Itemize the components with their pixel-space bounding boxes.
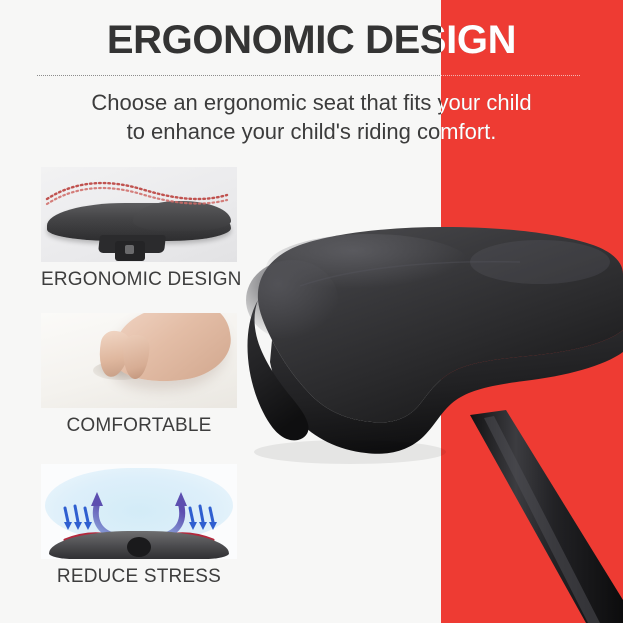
page-subtitle: Choose an ergonomic seat that fits your … (0, 88, 623, 146)
header-divider-on-red (441, 75, 580, 76)
feature-image-ergonomic-design (41, 167, 237, 262)
infographic-canvas: ERGONOMIC DESIGN ERGONOMIC DESIGN Choose… (0, 0, 623, 623)
feature-label-reduce-stress: REDUCE STRESS (41, 566, 237, 588)
feature-image-reduce-stress (41, 464, 237, 559)
contour-dotted-line-icon (45, 177, 231, 207)
feature-card-comfortable: COMFORTABLE (41, 313, 237, 437)
feature-label-comfortable: COMFORTABLE (41, 415, 237, 437)
feature-image-comfortable (41, 313, 237, 408)
feature-card-reduce-stress: REDUCE STRESS (41, 464, 237, 588)
feature-card-ergonomic-design: ERGONOMIC DESIGN (41, 167, 237, 291)
feature-label-ergonomic-design: ERGONOMIC DESIGN (41, 269, 237, 291)
page-title: ERGONOMIC DESIGN ERGONOMIC DESIGN (0, 14, 623, 66)
